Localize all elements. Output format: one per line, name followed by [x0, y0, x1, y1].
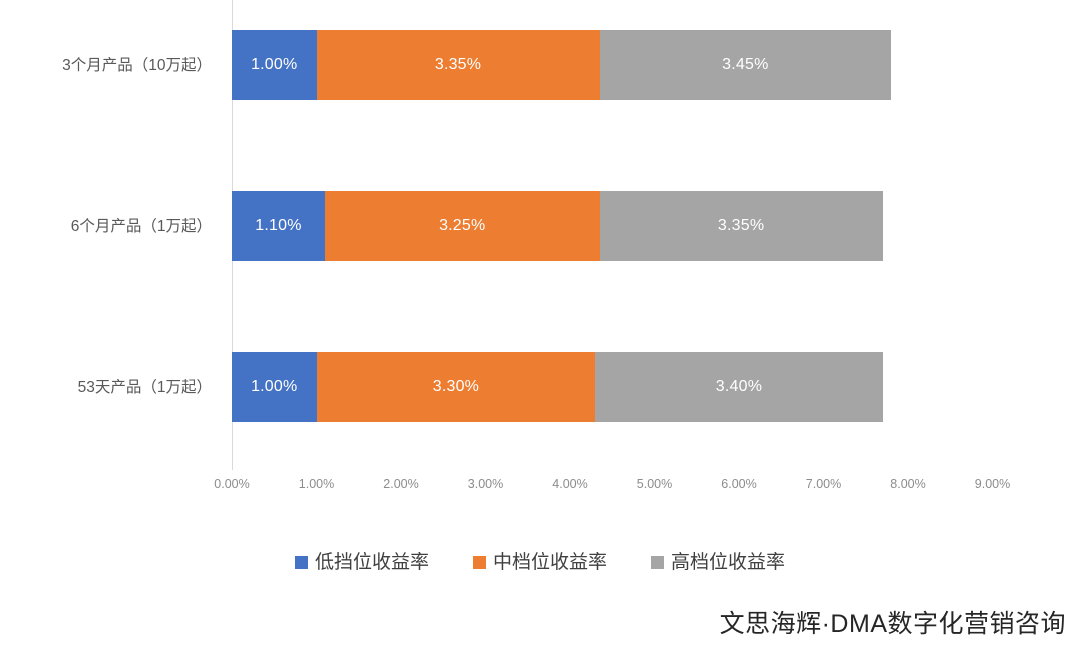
bar-segment-low-2[interactable]: 1.00%	[232, 352, 317, 422]
bar-label-mid-2: 3.30%	[433, 379, 479, 395]
x-tick-label-7: 7.00%	[806, 478, 841, 491]
bar-segment-high-0[interactable]: 3.45%	[600, 30, 892, 100]
legend-item-low[interactable]: 低挡位收益率	[295, 553, 429, 572]
bar-row-1: 1.10% 3.25% 3.35%	[232, 191, 1032, 261]
category-label-1: 6个月产品（1万起）	[0, 219, 212, 235]
legend-label-high: 高档位收益率	[671, 553, 785, 572]
bar-label-mid-1: 3.25%	[439, 218, 485, 234]
legend-swatch-low-icon	[295, 556, 308, 569]
x-tick-label-0: 0.00%	[214, 478, 249, 491]
x-tick-label-1: 1.00%	[299, 478, 334, 491]
legend-item-high[interactable]: 高档位收益率	[651, 553, 785, 572]
bar-label-high-1: 3.35%	[718, 218, 764, 234]
value-axis-ticks: 0.00%1.00%2.00%3.00%4.00%5.00%6.00%7.00%…	[232, 470, 1032, 500]
bar-label-high-0: 3.45%	[722, 57, 768, 73]
legend-label-low: 低挡位收益率	[315, 553, 429, 572]
x-tick-label-9: 9.00%	[975, 478, 1010, 491]
watermark: 文思海辉·DMA数字化营销咨询	[720, 612, 1066, 637]
bar-stack-1: 1.10% 3.25% 3.35%	[232, 191, 883, 261]
bar-segment-low-1[interactable]: 1.10%	[232, 191, 325, 261]
chart-legend: 低挡位收益率 中档位收益率 高档位收益率	[0, 553, 1080, 572]
bar-stack-0: 1.00% 3.35% 3.45%	[232, 30, 891, 100]
x-tick-label-8: 8.00%	[890, 478, 925, 491]
legend-swatch-high-icon	[651, 556, 664, 569]
x-tick-label-2: 2.00%	[383, 478, 418, 491]
bar-label-mid-0: 3.35%	[435, 57, 481, 73]
legend-item-mid[interactable]: 中档位收益率	[473, 553, 607, 572]
x-tick-label-6: 6.00%	[721, 478, 756, 491]
bar-label-low-1: 1.10%	[255, 218, 301, 234]
bar-row-0: 1.00% 3.35% 3.45%	[232, 30, 1032, 100]
bar-label-low-0: 1.00%	[251, 57, 297, 73]
plot-area: 1.00% 3.35% 3.45% 1.10% 3.25% 3.35%	[232, 0, 1032, 470]
bar-segment-high-1[interactable]: 3.35%	[600, 191, 883, 261]
legend-swatch-mid-icon	[473, 556, 486, 569]
bar-segment-mid-2[interactable]: 3.30%	[317, 352, 596, 422]
x-tick-label-3: 3.00%	[468, 478, 503, 491]
category-label-0: 3个月产品（10万起）	[0, 58, 212, 74]
x-tick-label-5: 5.00%	[637, 478, 672, 491]
category-label-2: 53天产品（1万起）	[0, 380, 212, 396]
legend-label-mid: 中档位收益率	[493, 553, 607, 572]
bar-segment-mid-0[interactable]: 3.35%	[317, 30, 600, 100]
bar-label-high-2: 3.40%	[716, 379, 762, 395]
bar-segment-mid-1[interactable]: 3.25%	[325, 191, 600, 261]
category-axis-labels: 3个月产品（10万起） 6个月产品（1万起） 53天产品（1万起）	[0, 0, 222, 470]
bar-row-2: 1.00% 3.30% 3.40%	[232, 352, 1032, 422]
stacked-bar-chart: 3个月产品（10万起） 6个月产品（1万起） 53天产品（1万起） 1.00% …	[0, 0, 1080, 670]
bar-segment-high-2[interactable]: 3.40%	[595, 352, 882, 422]
x-tick-label-4: 4.00%	[552, 478, 587, 491]
bar-segment-low-0[interactable]: 1.00%	[232, 30, 317, 100]
bar-label-low-2: 1.00%	[251, 379, 297, 395]
bar-stack-2: 1.00% 3.30% 3.40%	[232, 352, 883, 422]
